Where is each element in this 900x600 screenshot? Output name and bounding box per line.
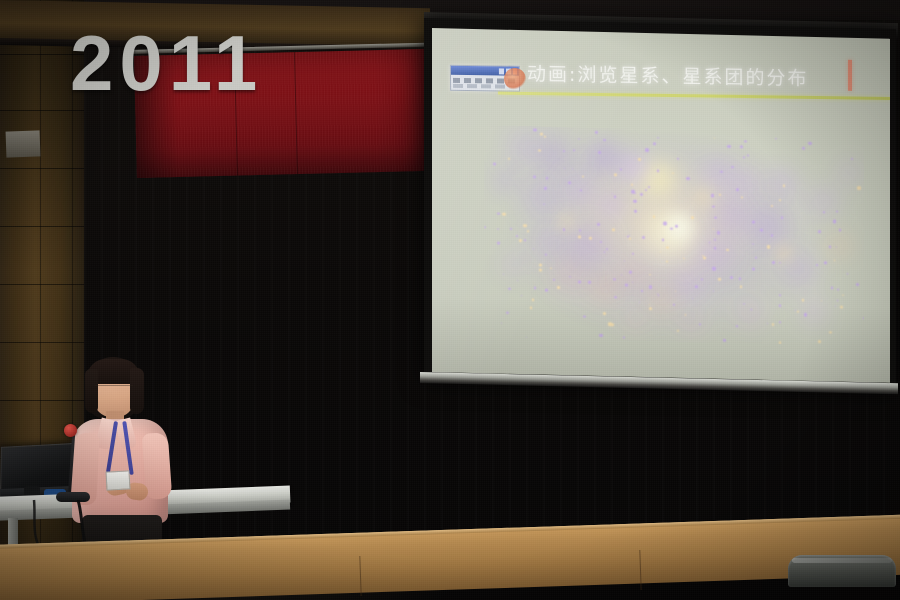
chair-highlight [792,558,892,563]
cables [0,0,900,600]
presentation-photo: 2011 动画:浏览星系、星系团的分布 [0,0,900,600]
